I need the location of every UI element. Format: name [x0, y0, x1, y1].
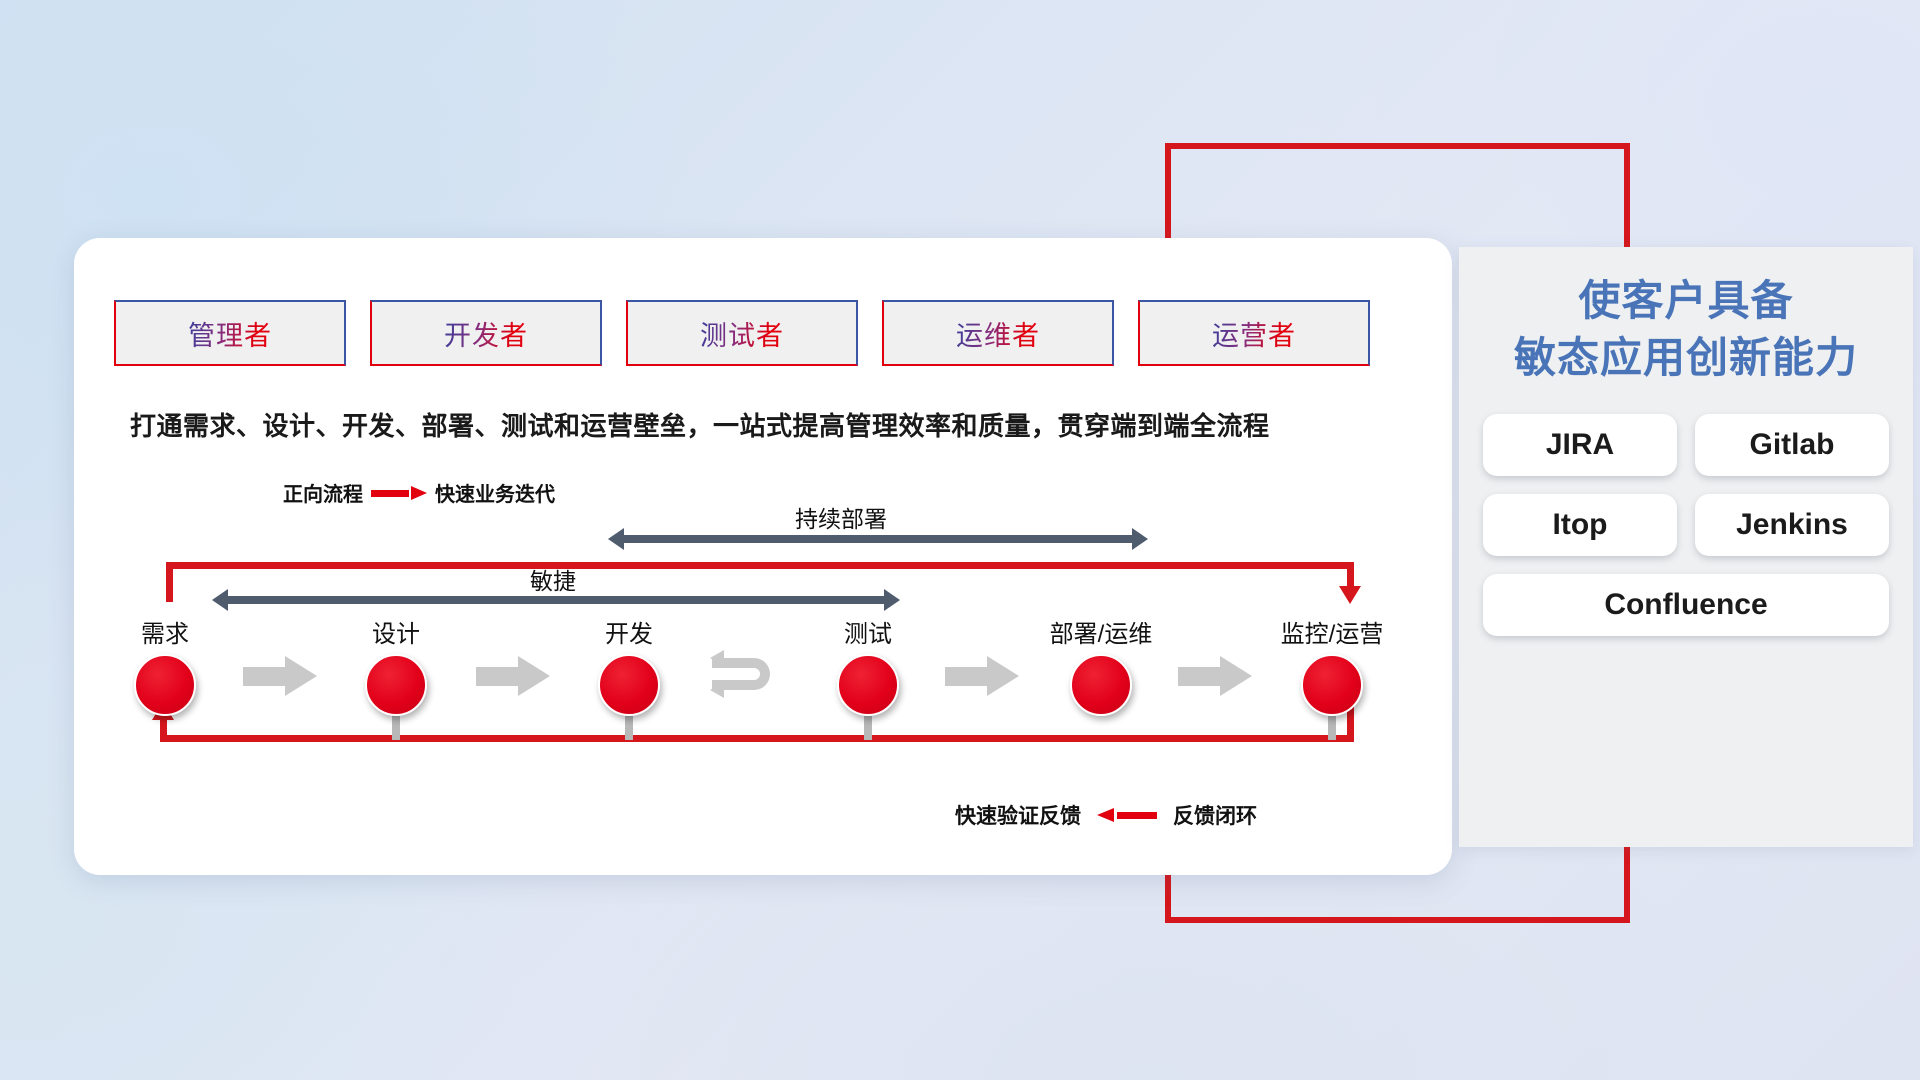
- agile-span-arrow: [212, 589, 900, 611]
- stage-label: 监控/运营: [1267, 614, 1397, 649]
- role-box-manager[interactable]: 管理者: [114, 300, 346, 366]
- tool-chip-jenkins[interactable]: Jenkins: [1695, 494, 1889, 556]
- feedback-loop-label: 反馈闭环: [1173, 800, 1257, 830]
- red-loop-left-vertical-upper: [166, 562, 173, 602]
- feedback-result-label: 快速验证反馈: [955, 800, 1081, 830]
- red-loop-left-vertical-lower: [160, 718, 167, 742]
- stage-monitor-operations[interactable]: 监控/运营: [1267, 614, 1397, 716]
- stage-test[interactable]: 测试: [803, 614, 933, 716]
- arrow-head-right-icon: [1132, 528, 1148, 550]
- stage-label: 开发: [564, 614, 694, 649]
- red-loop-down-arrowhead-icon: [1339, 586, 1361, 604]
- role-box-developer[interactable]: 开发者: [370, 300, 602, 366]
- stage-label: 设计: [331, 614, 461, 649]
- forward-flow-legend: 正向流程 快速业务迭代: [283, 478, 555, 507]
- stage-label: 测试: [803, 614, 933, 649]
- stage-deploy-ops[interactable]: 部署/运维: [1036, 614, 1166, 716]
- role-box-operations[interactable]: 运营者: [1138, 300, 1370, 366]
- arrow-shaft: [623, 535, 1133, 543]
- arrow-shaft: [945, 667, 989, 686]
- role-label: 管理者: [188, 314, 272, 353]
- role-box-row: 管理者 开发者 测试者 运维者 运营者: [114, 300, 1370, 366]
- description-text: 打通需求、设计、开发、部署、测试和运营壁垒，一站式提高管理效率和质量，贯穿端到端…: [130, 406, 1400, 443]
- flow-arrow-test-to-deploy: [945, 656, 1019, 696]
- stage-dot-icon: [134, 654, 196, 716]
- forward-flow-result-label: 快速业务迭代: [435, 478, 555, 507]
- forward-flow-label: 正向流程: [283, 478, 363, 507]
- tool-chip-gitlab[interactable]: Gitlab: [1695, 414, 1889, 476]
- tool-chip-itop[interactable]: Itop: [1483, 494, 1677, 556]
- stage-dot-icon: [837, 654, 899, 716]
- role-label: 运营者: [1212, 314, 1296, 353]
- stage-design[interactable]: 设计: [331, 614, 461, 716]
- arrow-head-left-icon: [212, 589, 228, 611]
- tool-chip-grid: JIRA Gitlab Itop Jenkins Confluence: [1459, 386, 1913, 636]
- stage-requirement[interactable]: 需求: [100, 614, 230, 716]
- stage-dot-icon: [1070, 654, 1132, 716]
- role-box-ops[interactable]: 运维者: [882, 300, 1114, 366]
- tool-chip-confluence[interactable]: Confluence: [1483, 574, 1889, 636]
- stage-dot-icon: [1301, 654, 1363, 716]
- arrow-shaft: [227, 596, 885, 604]
- role-label: 运维者: [956, 314, 1040, 353]
- slide-canvas: 管理者 开发者 测试者 运维者 运营者 打通需求、设计、开发、部署、测试和运营壁…: [0, 0, 1920, 1080]
- role-label: 测试者: [700, 314, 784, 353]
- right-panel-title-line2: 敏态应用创新能力: [1459, 330, 1913, 387]
- arrow-shaft: [476, 667, 520, 686]
- red-loop-top-bar: [166, 562, 1354, 569]
- flow-arrow-deploy-to-monitor: [1178, 656, 1252, 696]
- right-panel-title-line1: 使客户具备: [1459, 273, 1913, 330]
- red-connector-bottom-bar: [1165, 917, 1630, 923]
- red-loop-bottom-bar: [160, 735, 1354, 742]
- arrow-head-right-icon: [285, 656, 317, 696]
- role-box-tester[interactable]: 测试者: [626, 300, 858, 366]
- stage-dot-icon: [598, 654, 660, 716]
- iterate-loop-icon: [706, 640, 792, 712]
- tool-chip-jira[interactable]: JIRA: [1483, 414, 1677, 476]
- arrow-shaft: [1178, 667, 1222, 686]
- arrow-head-right-icon: [1220, 656, 1252, 696]
- flow-arrow-requirement-to-design: [243, 656, 317, 696]
- feedback-legend: 快速验证反馈 反馈闭环: [955, 800, 1257, 830]
- continuous-deployment-span-arrow: [608, 528, 1148, 550]
- flow-arrow-design-to-develop: [476, 656, 550, 696]
- red-connector-top-bar: [1165, 143, 1630, 149]
- role-label: 开发者: [444, 314, 528, 353]
- arrow-head-right-icon: [518, 656, 550, 696]
- iterate-loop-svg: [706, 640, 792, 712]
- stage-develop[interactable]: 开发: [564, 614, 694, 716]
- arrow-head-left-icon: [608, 528, 624, 550]
- arrow-head-right-icon: [987, 656, 1019, 696]
- stage-label: 部署/运维: [1036, 614, 1166, 649]
- arrow-right-red-icon: [371, 486, 427, 500]
- arrow-left-red-icon: [1097, 808, 1157, 822]
- right-panel-title: 使客户具备 敏态应用创新能力: [1459, 247, 1913, 386]
- right-panel: 使客户具备 敏态应用创新能力 JIRA Gitlab Itop Jenkins …: [1459, 247, 1913, 847]
- stage-label: 需求: [100, 614, 230, 649]
- stage-dot-icon: [365, 654, 427, 716]
- arrow-head-right-icon: [884, 589, 900, 611]
- arrow-shaft: [243, 667, 287, 686]
